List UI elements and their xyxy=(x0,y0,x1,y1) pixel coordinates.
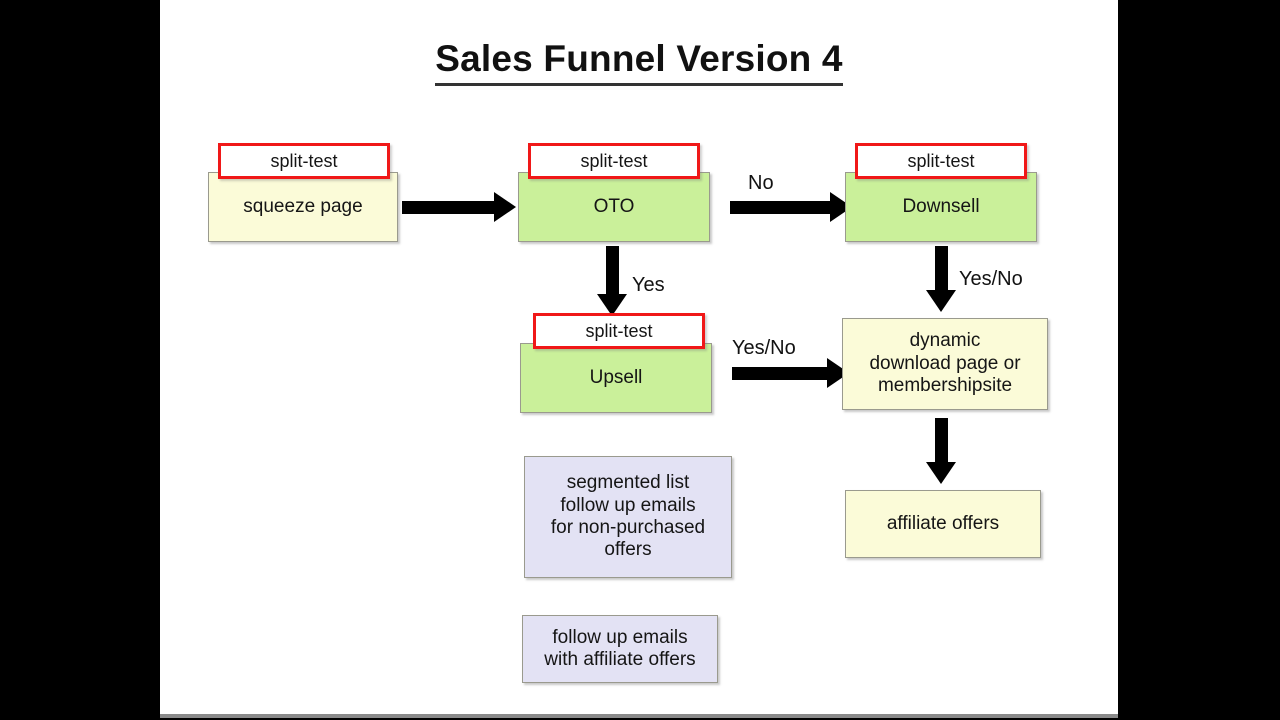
segmented-list-line-1: segmented list xyxy=(551,472,705,494)
node-upsell-label: Upsell xyxy=(520,343,712,413)
arrow-shaft xyxy=(606,246,619,295)
page-title-text: Sales Funnel Version 4 xyxy=(435,38,842,86)
segmented-list-line-2: follow up emails xyxy=(551,495,705,517)
node-oto[interactable]: OTO xyxy=(518,172,710,242)
slide-canvas: Sales Funnel Version 4 split-test squeez… xyxy=(160,0,1118,714)
arrow-squeeze-page-to-oto xyxy=(402,192,516,222)
split-test-tab-squeeze-page[interactable]: split-test xyxy=(218,143,390,179)
arrow-head xyxy=(926,290,956,312)
arrow-shaft xyxy=(935,418,948,463)
arrow-oto-to-upsell xyxy=(597,246,627,316)
node-downsell[interactable]: Downsell xyxy=(845,172,1037,242)
arrow-upsell-to-dynamic-download xyxy=(732,358,849,388)
arrow-shaft xyxy=(730,201,831,214)
node-dynamic-download-page-label: dynamic download page or membershipsite xyxy=(842,318,1048,410)
node-downsell-label: Downsell xyxy=(845,172,1037,242)
split-test-tab-oto[interactable]: split-test xyxy=(528,143,700,179)
node-squeeze-page[interactable]: squeeze page xyxy=(208,172,398,242)
segmented-list-line-4: offers xyxy=(551,539,705,561)
node-affiliate-offers[interactable]: affiliate offers xyxy=(845,490,1041,558)
dynamic-download-line-3: membershipsite xyxy=(869,375,1020,397)
dynamic-download-line-1: dynamic xyxy=(869,330,1020,352)
arrow-head xyxy=(926,462,956,484)
node-squeeze-page-label: squeeze page xyxy=(208,172,398,242)
node-upsell[interactable]: Upsell xyxy=(520,343,712,413)
slide-bottom-rule xyxy=(160,714,1118,718)
arrow-downsell-to-dynamic-download xyxy=(926,246,956,312)
segmented-list-line-3: for non-purchased xyxy=(551,517,705,539)
edge-label-upsell-to-dynamic-download: Yes/No xyxy=(732,337,796,360)
node-segmented-list[interactable]: segmented list follow up emails for non-… xyxy=(524,456,732,578)
node-affiliate-offers-label: affiliate offers xyxy=(845,490,1041,558)
node-follow-up-affiliate-offers-label: follow up emails with affiliate offers xyxy=(522,615,718,683)
split-test-tab-downsell[interactable]: split-test xyxy=(855,143,1027,179)
arrow-shaft xyxy=(935,246,948,291)
arrow-dynamic-download-to-affiliate-offers xyxy=(926,418,956,484)
edge-label-downsell-to-dynamic-download: Yes/No xyxy=(959,268,1023,291)
edge-label-oto-to-upsell: Yes xyxy=(632,274,665,297)
node-segmented-list-label: segmented list follow up emails for non-… xyxy=(524,456,732,578)
follow-up-affiliate-line-2: with affiliate offers xyxy=(544,649,695,671)
arrow-head xyxy=(494,192,516,222)
arrow-shaft xyxy=(732,367,828,380)
node-follow-up-affiliate-offers[interactable]: follow up emails with affiliate offers xyxy=(522,615,718,683)
split-test-tab-upsell[interactable]: split-test xyxy=(533,313,705,349)
follow-up-affiliate-line-1: follow up emails xyxy=(544,627,695,649)
video-letterbox-frame: Sales Funnel Version 4 split-test squeez… xyxy=(0,0,1280,720)
node-oto-label: OTO xyxy=(518,172,710,242)
dynamic-download-line-2: download page or xyxy=(869,353,1020,375)
arrow-shaft xyxy=(402,201,495,214)
arrow-oto-to-downsell xyxy=(730,192,852,222)
page-title: Sales Funnel Version 4 xyxy=(160,38,1118,86)
node-dynamic-download-page[interactable]: dynamic download page or membershipsite xyxy=(842,318,1048,410)
